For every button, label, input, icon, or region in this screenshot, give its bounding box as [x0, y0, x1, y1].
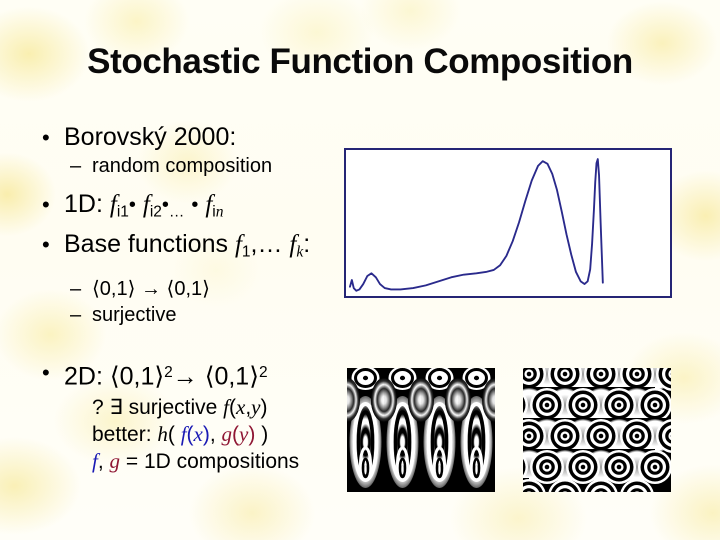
bullet-item-borovsky: • Borovský 2000: — [30, 122, 360, 153]
note-better-g: g — [222, 422, 233, 446]
note-better-f-paren-open: ( — [187, 423, 194, 446]
note-better-paren-close: ) — [255, 423, 268, 446]
note-better-prefix: better: — [92, 423, 157, 446]
note-better-h: h — [157, 422, 168, 446]
dash-glyph-icon: – — [70, 277, 81, 302]
formula-1d-f2-subscript: i2 — [150, 204, 162, 221]
base-functions-f1: f — [235, 231, 242, 258]
note-better-f-paren-close: ) — [203, 423, 210, 446]
chart-1d-canvas — [346, 150, 670, 296]
bullet-item-domain-range: – ⟨0,1⟩ → ⟨0,1⟩ — [30, 277, 360, 302]
note-better-separator: , — [210, 423, 222, 446]
formula-2d-codomain: ⟨0,1⟩ — [205, 363, 259, 391]
note-exists-surjective: ? ∃ surjective f(x,y) — [30, 394, 360, 421]
note-exists-paren-open: ( — [229, 396, 236, 419]
note-fg-g: g — [110, 449, 121, 473]
bullet-item-random-composition: – random composition — [30, 154, 360, 179]
chart-1d-curve — [350, 159, 603, 291]
formula-2d-codomain-exponent: 2 — [259, 364, 268, 381]
bullet-item-base-functions: • Base functions f1,… fk: — [30, 229, 360, 268]
chart-1d-composition — [344, 148, 672, 298]
pattern-2d-right-canvas — [523, 368, 671, 492]
spacer — [30, 268, 360, 277]
formula-1d-f1-subscript: i1 — [117, 204, 129, 221]
dash-glyph-icon: – — [70, 154, 81, 179]
base-functions-prefix: Base functions — [64, 230, 235, 258]
formula-2d-domain-exponent: 2 — [164, 364, 173, 381]
note-exists-x: x — [236, 395, 245, 419]
note-exists-paren-close: ) — [261, 396, 268, 419]
note-better-g-arg: y — [239, 422, 248, 446]
bullet-label-random-composition: random composition — [92, 155, 272, 177]
base-functions-suffix: : — [303, 230, 310, 258]
bullet-glyph-icon: • — [42, 122, 50, 153]
formula-1d-f3-subscript-n: n — [216, 204, 224, 221]
formula-1d-compose-dot-2: • — [162, 194, 169, 216]
formula-1d-prefix: 1D: — [64, 190, 110, 218]
note-exists-prefix: ? ∃ surjective — [92, 396, 223, 419]
formula-2d-domain: ⟨0,1⟩ — [110, 363, 164, 391]
base-functions-separator: ,… — [251, 230, 290, 258]
pattern-2d-left-canvas — [347, 368, 495, 492]
slide-canvas: Stochastic Function Composition • Borovs… — [0, 0, 720, 540]
spacer — [30, 329, 360, 357]
formula-1d-ellipsis: … — [169, 204, 185, 221]
dash-glyph-icon: – — [70, 303, 81, 328]
formula-1d-f2: f — [143, 191, 150, 218]
formula-1d-f1: f — [110, 191, 117, 218]
bullet-label-borovsky: Borovský 2000: — [64, 123, 236, 151]
bullet-list: • Borovský 2000: – random composition • … — [30, 122, 360, 475]
formula-1d-compose-dot-3: • — [191, 194, 198, 216]
formula-2d-prefix: 2D: — [64, 363, 110, 391]
formula-2d-arrow-icon: → — [173, 363, 205, 391]
pattern-2d-left — [347, 368, 495, 492]
bullet-item-surjective: – surjective — [30, 303, 360, 328]
note-better-g-paren-open: ( — [232, 423, 239, 446]
formula-1d-compose-dot-1: • — [129, 194, 136, 216]
bullet-item-2d-formula: • 2D: ⟨0,1⟩2→ ⟨0,1⟩2 — [30, 357, 360, 392]
bullet-glyph-icon: • — [42, 357, 50, 388]
bullet-item-1d-formula: • 1D: fi1• fi2•… • fin — [30, 189, 360, 228]
note-fg-rest: = 1D compositions — [120, 450, 299, 473]
page-title: Stochastic Function Composition — [0, 42, 720, 82]
note-better-paren-open: ( — [168, 423, 181, 446]
bullet-label-surjective: surjective — [92, 304, 176, 326]
bullet-label-domain-range: ⟨0,1⟩ → ⟨0,1⟩ — [92, 278, 210, 300]
base-functions-f1-subscript: 1 — [242, 243, 251, 260]
spacer — [30, 180, 360, 189]
note-better-decomposition: better: h( f(x), g(y) ) — [30, 421, 360, 448]
bullet-glyph-icon: • — [42, 229, 50, 260]
note-better-f-arg: x — [194, 422, 203, 446]
bullet-glyph-icon: • — [42, 189, 50, 220]
note-exists-y: y — [251, 395, 260, 419]
pattern-2d-right — [523, 368, 671, 492]
note-fg-are-1d: f, g = 1D compositions — [30, 448, 360, 475]
note-fg-comma: , — [98, 450, 110, 473]
